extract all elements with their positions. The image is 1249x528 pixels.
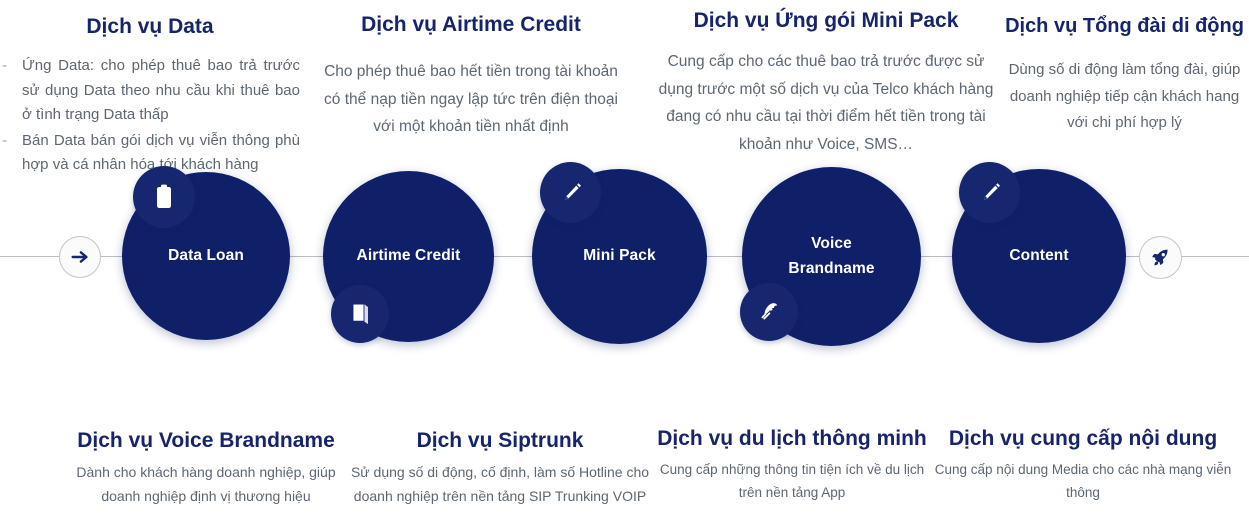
top-section-tong-dai: Dịch vụ Tổng đài di động Dùng số di động…: [1000, 14, 1249, 137]
section-heading: Dịch vụ du lịch thông minh: [656, 426, 928, 452]
list-item-text: Ứng Data: cho phép thuê bao trả trước sử…: [22, 57, 300, 123]
timeline-node-airtime-credit[interactable]: Airtime Credit: [323, 171, 494, 342]
arrow-right-icon: [69, 246, 91, 268]
section-heading: Dịch vụ Tổng đài di động: [1000, 14, 1249, 39]
node-label-line-2: Brandname: [788, 260, 874, 277]
node-label: Content: [1009, 244, 1068, 268]
data-bullet-list: - Ứng Data: cho phép thuê bao trả trước …: [0, 54, 300, 177]
section-heading: Dịch vụ Data: [0, 14, 300, 40]
section-heading: Dịch vụ Airtime Credit: [316, 12, 626, 38]
timeline-node-voice-brandname[interactable]: Voice Brandname: [742, 167, 921, 346]
pencil-icon-badge[interactable]: [959, 162, 1020, 223]
section-body: Sử dụng số di động, cố định, làm số Hotl…: [350, 461, 650, 509]
node-label: Data Loan: [168, 244, 244, 268]
section-body: Dùng số di động làm tổng đài, giúp doanh…: [1000, 57, 1249, 137]
timeline-end-marker[interactable]: [1139, 236, 1182, 279]
bottom-section-noi-dung: Dịch vụ cung cấp nội dung Cung cấp nội d…: [934, 426, 1232, 505]
feather-icon-badge[interactable]: [740, 283, 798, 341]
node-label: Voice Brandname: [788, 232, 874, 280]
section-heading: Dịch vụ cung cấp nội dung: [934, 426, 1232, 452]
node-label: Airtime Credit: [357, 244, 461, 268]
pencil-icon-badge[interactable]: [540, 162, 601, 223]
clipboard-icon: [152, 184, 176, 210]
section-body: Cung cấp những thông tin tiện ích về du …: [656, 459, 928, 505]
section-heading: Dịch vụ Voice Brandname: [56, 428, 356, 454]
top-section-mini-pack: Dịch vụ Ứng gói Mini Pack Cung cấp cho c…: [650, 8, 1002, 159]
clipboard-icon-badge[interactable]: [133, 166, 195, 228]
book-icon-badge[interactable]: [331, 285, 389, 343]
section-body: Cung cấp cho các thuê bao trả trước được…: [650, 48, 1002, 158]
node-label: Mini Pack: [583, 244, 655, 268]
timeline-node-content[interactable]: Content: [952, 169, 1126, 343]
bottom-section-siptrunk: Dịch vụ Siptrunk Sử dụng số di động, cố …: [350, 428, 650, 509]
pencil-icon: [977, 180, 1003, 206]
section-body: Cho phép thuê bao hết tiền trong tài kho…: [316, 58, 626, 141]
pencil-icon: [558, 180, 584, 206]
timeline-start-marker[interactable]: [59, 236, 101, 278]
bottom-section-du-lich: Dịch vụ du lịch thông minh Cung cấp nhữn…: [656, 426, 928, 505]
infographic-canvas: Dịch vụ Data - Ứng Data: cho phép thuê b…: [0, 0, 1249, 528]
bottom-section-voice-brandname: Dịch vụ Voice Brandname Dành cho khách h…: [56, 428, 356, 509]
book-icon: [348, 301, 372, 327]
top-section-airtime-credit: Dịch vụ Airtime Credit Cho phép thuê bao…: [316, 12, 626, 141]
timeline-node-mini-pack[interactable]: Mini Pack: [532, 169, 707, 344]
timeline-node-data-loan[interactable]: Data Loan: [122, 172, 290, 340]
section-heading: Dịch vụ Ứng gói Mini Pack: [650, 8, 1002, 34]
bullet-marker: -: [2, 129, 7, 153]
top-section-data: Dịch vụ Data - Ứng Data: cho phép thuê b…: [0, 14, 300, 180]
section-body: Cung cấp nội dung Media cho các nhà mạng…: [934, 459, 1232, 505]
bullet-marker: -: [2, 54, 7, 78]
node-label-line-1: Voice: [811, 235, 852, 252]
feather-icon: [757, 300, 781, 324]
rocket-icon: [1150, 247, 1171, 268]
list-item: - Ứng Data: cho phép thuê bao trả trước …: [0, 54, 300, 127]
section-heading: Dịch vụ Siptrunk: [350, 428, 650, 454]
section-body: Dành cho khách hàng doanh nghiệp, giúp d…: [56, 461, 356, 509]
